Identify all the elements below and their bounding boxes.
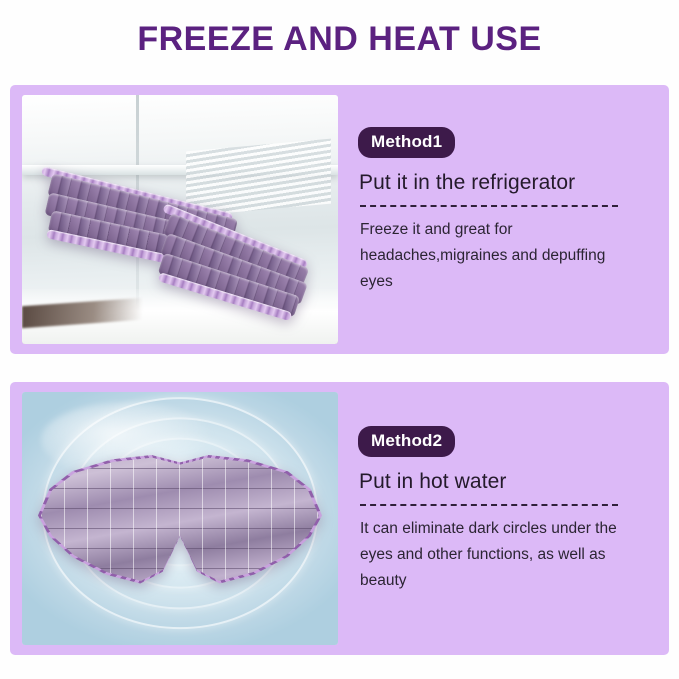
method-2-body: It can eliminate dark circles under the …: [360, 516, 640, 594]
method-card-1: Method1 Put it in the refrigerator Freez…: [10, 85, 669, 354]
method-1-divider: [360, 205, 618, 207]
method-2-badge: Method2: [358, 426, 455, 457]
method-1-photo: [22, 95, 338, 344]
method-1-badge: Method1: [358, 127, 455, 158]
method-1-body: Freeze it and great for headaches,migrai…: [360, 217, 628, 295]
method-1-text-panel: Method1 Put it in the refrigerator Freez…: [358, 85, 658, 354]
method-card-2: Method2 Put in hot water It can eliminat…: [10, 382, 669, 655]
method-1-heading: Put it in the refrigerator: [359, 171, 575, 195]
method-2-text-panel: Method2 Put in hot water It can eliminat…: [358, 382, 658, 655]
page-title: FREEZE AND HEAT USE: [0, 20, 679, 59]
crystal-eye-mask-flat: [41, 448, 319, 590]
crystal-eye-mask-folded: [47, 160, 312, 304]
method-2-divider: [360, 504, 618, 506]
method-2-heading: Put in hot water: [359, 470, 507, 494]
method-2-photo: [22, 392, 338, 645]
